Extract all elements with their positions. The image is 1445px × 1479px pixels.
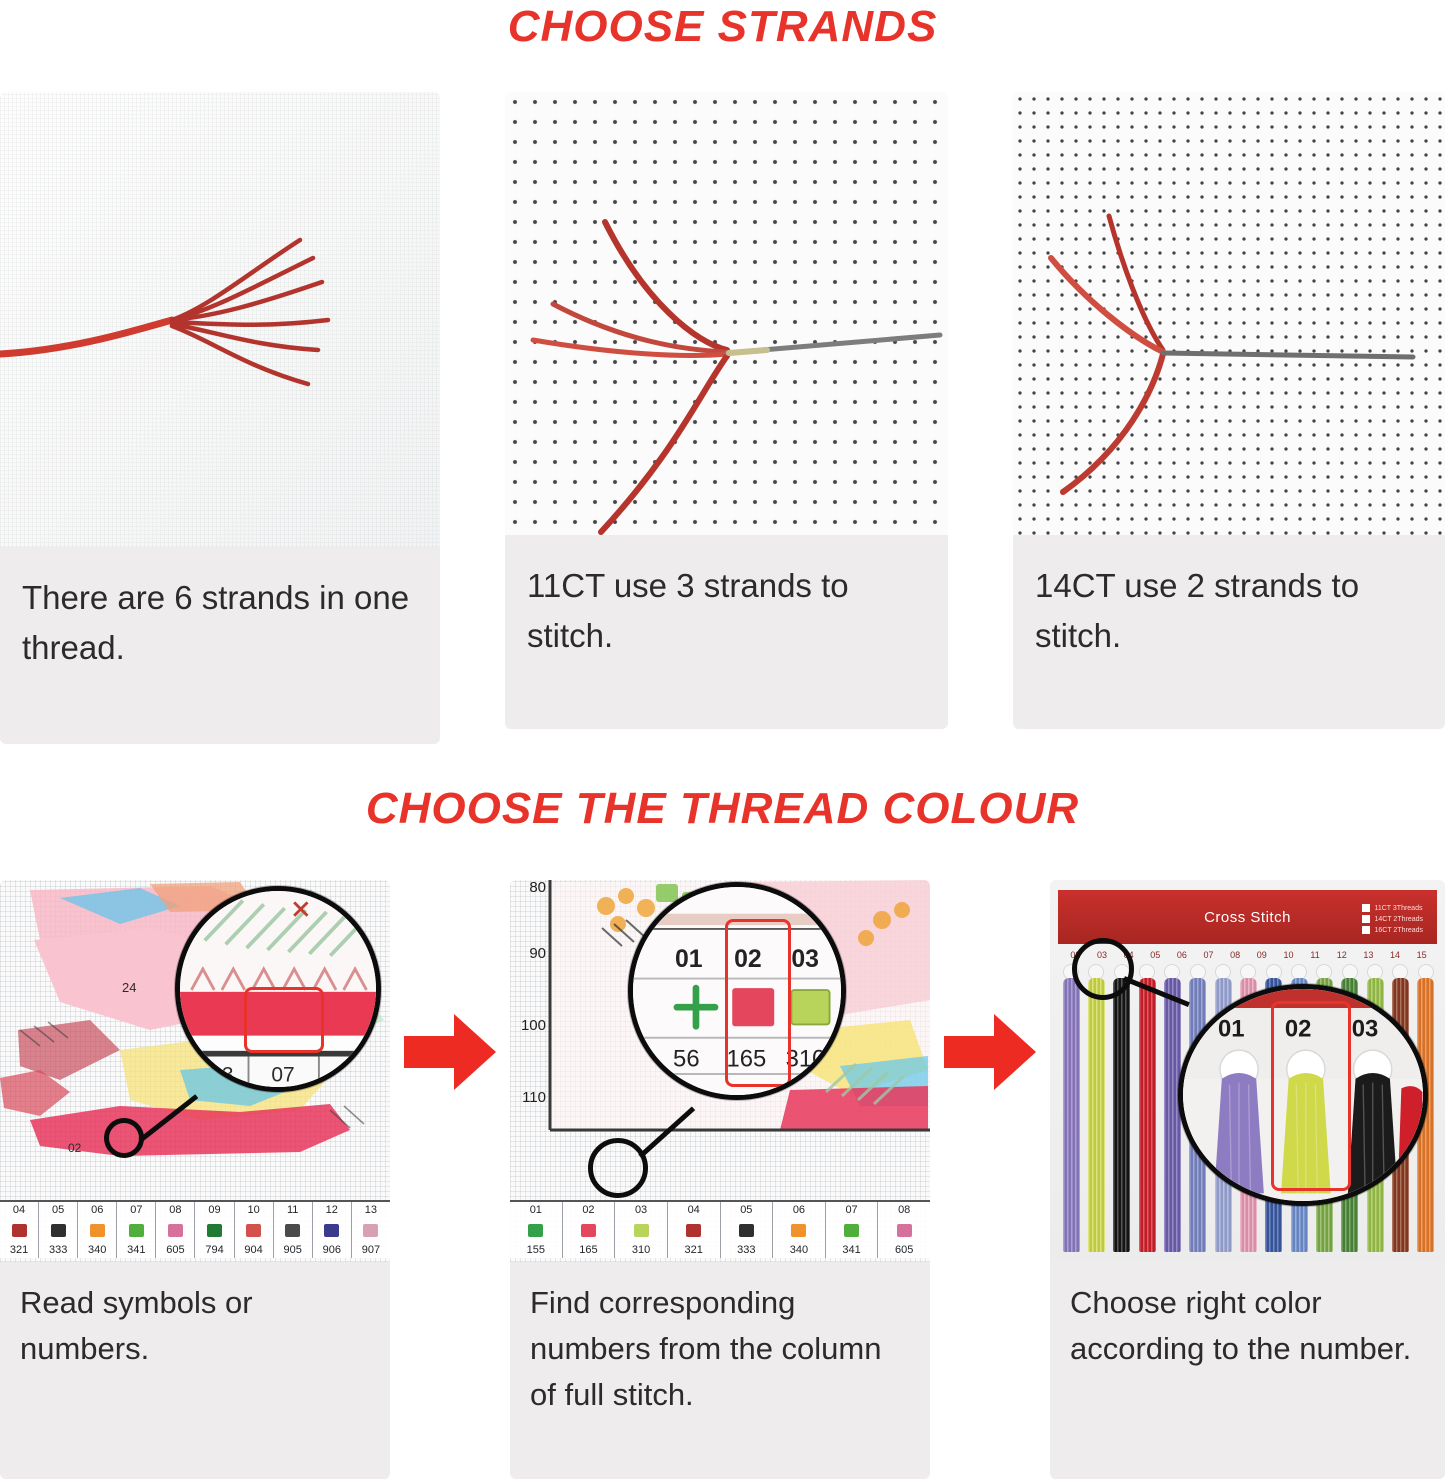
caption-find-numbers: Find corresponding numbers from the colu… [510, 1262, 930, 1479]
magnifier-col-01: 01 [675, 946, 703, 973]
legend-code-row: 04050607080910111213 [0, 1202, 390, 1218]
legend-color-swatch [897, 1224, 912, 1237]
legend-dmc-cell: 605 [156, 1242, 195, 1258]
legend-code-cell: 04 [0, 1202, 39, 1218]
legend-dmc-cell: 340 [78, 1242, 117, 1258]
skein-number: 14 [1382, 950, 1409, 964]
skein [1111, 964, 1133, 1252]
legend-code-cell: 05 [721, 1202, 774, 1218]
chart-cell-number-24: 24 [122, 980, 136, 995]
card-six-strands: There are 6 strands in one thread. [0, 92, 440, 744]
skein-number: 15 [1408, 950, 1435, 964]
chart-cell-number-02: 02 [68, 1141, 82, 1155]
legend-code-cell: 04 [668, 1202, 721, 1218]
magnifier-source-circle-3 [1072, 938, 1134, 1000]
legend-code-cell: 12 [313, 1202, 352, 1218]
three-strand-needle-illustration [505, 92, 948, 535]
skein-number: 06 [1169, 950, 1196, 964]
legend-dmc-cell: 341 [117, 1242, 156, 1258]
legend-dmc-cell: 906 [313, 1242, 352, 1258]
legend-dmc-row: 321333340341605794904905906907 [0, 1242, 390, 1258]
mag-skein-col-03: 03 [1352, 1016, 1379, 1043]
skein-floss [1113, 978, 1130, 1252]
legend-dmc-cell: 310 [615, 1242, 668, 1258]
page-title-choose-thread-colour: CHOOSE THE THREAD COLOUR [0, 784, 1445, 834]
legend-code-cell: 13 [352, 1202, 390, 1218]
skein-number: 05 [1142, 950, 1169, 964]
magnifier-source-circle-2 [588, 1138, 648, 1198]
chart-numbers-image: 80 90 100 110 [510, 880, 930, 1262]
skein-number: 09 [1248, 950, 1275, 964]
skein-number: 07 [1195, 950, 1222, 964]
legend-color-swatch [129, 1224, 144, 1237]
legend-code-cell: 06 [773, 1202, 826, 1218]
card-14ct: 14CT use 2 strands to stitch. [1013, 92, 1445, 729]
legend-dmc-cell: 333 [721, 1242, 774, 1258]
card-11ct: 11CT use 3 strands to stitch. [505, 92, 948, 729]
legend-symbol-cell [773, 1218, 826, 1242]
mag-skein-col-01: 01 [1218, 1016, 1245, 1043]
skein [1136, 964, 1158, 1252]
legend-code-cell: 06 [78, 1202, 117, 1218]
legend-code-cell: 07 [826, 1202, 879, 1218]
legend-color-swatch [246, 1224, 261, 1237]
skein-number: 11 [1302, 950, 1329, 964]
legend-dmc-cell: 907 [352, 1242, 390, 1258]
axis-label-100: 100 [521, 1017, 546, 1034]
legend-color-swatch [168, 1224, 183, 1237]
legend-symbol-cell [195, 1218, 234, 1242]
legend-symbol-cell [721, 1218, 774, 1242]
legend-code-cell: 08 [156, 1202, 195, 1218]
caption-11ct: 11CT use 3 strands to stitch. [505, 535, 948, 729]
legend-dmc-cell: 165 [563, 1242, 616, 1258]
legend-symbol-cell [878, 1218, 930, 1242]
pack-legend-checkbox [1362, 904, 1370, 912]
legend-color-swatch [581, 1224, 596, 1237]
legend-symbol-cell [274, 1218, 313, 1242]
skein-floss [1164, 978, 1181, 1252]
legend-symbol-cell [39, 1218, 78, 1242]
skein [1085, 964, 1107, 1252]
legend-dmc-cell: 155 [510, 1242, 563, 1258]
pack-legend-item: 11CT 3Threads [1362, 904, 1423, 912]
legend-dmc-row-2: 155165310321333340341605 [510, 1242, 930, 1258]
legend-symbol-row-2 [510, 1218, 930, 1242]
pack-legend-item: 16CT 2Threads [1362, 926, 1423, 934]
skein-number: 08 [1222, 950, 1249, 964]
legend-color-swatch [285, 1224, 300, 1237]
magnifier-code-56: 56 [673, 1045, 700, 1072]
legend-color-swatch [207, 1224, 222, 1237]
skein-number: 10 [1275, 950, 1302, 964]
legend-dmc-cell: 333 [39, 1242, 78, 1258]
legend-code-cell: 03 [615, 1202, 668, 1218]
skein-number: 13 [1355, 950, 1382, 964]
pack-legend-checkbox [1362, 926, 1370, 934]
legend-color-swatch [791, 1224, 806, 1237]
skein-floss [1063, 978, 1080, 1252]
legend-dmc-cell: 794 [195, 1242, 234, 1258]
skein [1060, 964, 1082, 1252]
card-choose-color: Cross Stitch 11CT 3Threads14CT 2Threads1… [1050, 880, 1445, 1479]
card-read-symbols: 24 02 [0, 880, 390, 1479]
photo-14ct-aida [1013, 92, 1445, 535]
card-find-numbers: 80 90 100 110 [510, 880, 930, 1479]
legend-dmc-cell: 904 [235, 1242, 274, 1258]
legend-symbol-cell [352, 1218, 390, 1242]
page-title-choose-strands: CHOOSE STRANDS [0, 2, 1445, 52]
pack-legend-checkbox [1362, 915, 1370, 923]
strands-card-row: There are 6 strands in one thread. 11 [0, 92, 1445, 752]
pack-legend: 11CT 3Threads14CT 2Threads16CT 2Threads [1362, 904, 1423, 934]
pack-legend-item: 14CT 2Threads [1362, 915, 1423, 923]
infographic-page: CHOOSE STRANDS There a [0, 0, 1445, 1479]
magnifier-col-03: 03 [791, 946, 819, 973]
legend-code-cell: 10 [235, 1202, 274, 1218]
legend-color-swatch [528, 1224, 543, 1237]
legend-symbol-cell [0, 1218, 39, 1242]
thread-pack-image: Cross Stitch 11CT 3Threads14CT 2Threads1… [1050, 880, 1445, 1262]
legend-symbol-cell [117, 1218, 156, 1242]
legend-symbol-cell [510, 1218, 563, 1242]
magnifier-lens-threads: 01 02 03 [1178, 984, 1428, 1206]
pack-legend-label: 14CT 2Threads [1374, 916, 1423, 923]
two-strand-needle-illustration [1013, 92, 1445, 535]
legend-symbol-cell [235, 1218, 274, 1242]
legend-color-swatch [844, 1224, 859, 1237]
legend-dmc-cell: 321 [0, 1242, 39, 1258]
colour-card-row: 24 02 [0, 880, 1445, 1479]
legend-dmc-cell: 321 [668, 1242, 721, 1258]
legend-code-row-2: 0102030405060708 [510, 1202, 930, 1218]
magnifier-label-left: 3 [222, 1063, 234, 1086]
legend-symbol-cell [668, 1218, 721, 1242]
pack-banner: Cross Stitch 11CT 3Threads14CT 2Threads1… [1058, 890, 1437, 944]
legend-color-swatch [363, 1224, 378, 1237]
legend-dmc-cell: 341 [826, 1242, 879, 1258]
legend-code-cell: 08 [878, 1202, 930, 1218]
legend-code-cell: 05 [39, 1202, 78, 1218]
axis-label-110: 110 [522, 1089, 546, 1106]
photo-11ct-aida [505, 92, 948, 535]
symbol-legend-table: 04050607080910111213 3213333403416057949… [0, 1200, 390, 1258]
legend-color-swatch [90, 1224, 105, 1237]
skein-number: 12 [1328, 950, 1355, 964]
legend-dmc-cell: 605 [878, 1242, 930, 1258]
magnifier-code-310: 310 [786, 1045, 826, 1072]
legend-color-swatch [51, 1224, 66, 1237]
legend-code-cell: 09 [195, 1202, 234, 1218]
magnifier-lens-numbers: 01 02 03 56 165 310 [628, 882, 846, 1100]
legend-color-swatch [324, 1224, 339, 1237]
legend-color-swatch [634, 1224, 649, 1237]
legend-color-swatch [739, 1224, 754, 1237]
legend-color-swatch [12, 1224, 27, 1237]
legend-symbol-cell [826, 1218, 879, 1242]
skein-floss [1088, 978, 1105, 1252]
legend-code-cell: 07 [117, 1202, 156, 1218]
six-strand-thread-illustration [0, 92, 440, 547]
legend-symbol-cell [563, 1218, 616, 1242]
magnifier-highlight-box [244, 987, 324, 1053]
caption-read-symbols: Read symbols or numbers. [0, 1262, 390, 1479]
legend-code-cell: 11 [274, 1202, 313, 1218]
caption-14ct: 14CT use 2 strands to stitch. [1013, 535, 1445, 729]
magnifier-highlight-box-2 [725, 919, 791, 1087]
arrow-step-2-to-3 [931, 880, 1049, 1479]
magnifier-highlight-box-3 [1271, 1001, 1351, 1191]
photo-six-strands [0, 92, 440, 547]
caption-six-strands: There are 6 strands in one thread. [0, 547, 440, 744]
legend-symbol-cell [615, 1218, 668, 1242]
magnifier-lens-symbols: 3 07 [175, 886, 381, 1092]
legend-dmc-cell: 905 [274, 1242, 313, 1258]
magnifier-label-right: 07 [271, 1063, 294, 1086]
right-arrow-icon-2 [942, 1008, 1038, 1096]
right-arrow-icon [402, 1008, 498, 1096]
arrow-step-1-to-2 [391, 880, 509, 1479]
axis-label-90: 90 [529, 945, 546, 962]
legend-code-cell: 01 [510, 1202, 563, 1218]
number-legend-table: 0102030405060708 15516531032133334034160… [510, 1200, 930, 1258]
legend-symbol-cell [156, 1218, 195, 1242]
legend-color-swatch [686, 1224, 701, 1237]
pack-legend-label: 11CT 3Threads [1374, 905, 1422, 912]
pack-legend-label: 16CT 2Threads [1374, 927, 1423, 934]
legend-symbol-cell [313, 1218, 352, 1242]
axis-label-80: 80 [529, 880, 546, 896]
legend-code-cell: 02 [563, 1202, 616, 1218]
legend-dmc-cell: 340 [773, 1242, 826, 1258]
chart-symbols-image: 24 02 [0, 880, 390, 1262]
skein-floss [1139, 978, 1156, 1252]
legend-symbol-row [0, 1218, 390, 1242]
caption-choose-color: Choose right color according to the numb… [1050, 1262, 1445, 1479]
pack-title: Cross Stitch [1204, 909, 1291, 926]
legend-symbol-cell [78, 1218, 117, 1242]
